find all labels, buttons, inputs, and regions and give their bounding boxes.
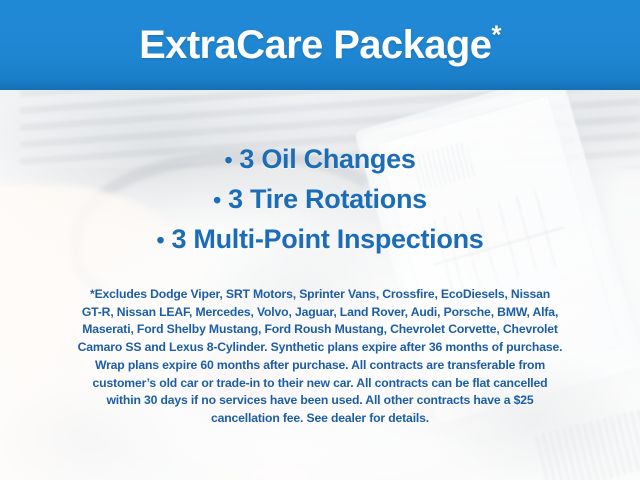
disclaimer-line: Camaro SS and Lexus 8-Cylinder. Syntheti…	[26, 339, 614, 357]
list-item: • 3 Oil Changes	[0, 140, 640, 180]
disclaimer-line: GT-R, Nissan LEAF, Mercedes, Volvo, Jagu…	[26, 304, 614, 322]
list-item: • 3 Tire Rotations	[0, 180, 640, 220]
benefits-list: • 3 Oil Changes • 3 Tire Rotations • 3 M…	[0, 140, 640, 260]
disclaimer-line: within 30 days if no services have been …	[26, 392, 614, 410]
page-title-text: ExtraCare Package	[139, 23, 491, 67]
disclaimer-line: cancellation fee. See dealer for details…	[26, 410, 614, 428]
list-item-label: 3 Tire Rotations	[228, 184, 427, 214]
list-item-label: 3 Multi-Point Inspections	[171, 224, 483, 254]
bullet-dot-icon: •	[213, 187, 221, 213]
disclaimer-text: *Excludes Dodge Viper, SRT Motors, Sprin…	[26, 286, 614, 428]
list-item-label: 3 Oil Changes	[239, 144, 415, 174]
bullet-dot-icon: •	[157, 227, 165, 253]
header-bar: ExtraCare Package*	[0, 0, 640, 90]
disclaimer-line: Wrap plans expire 60 months after purcha…	[26, 357, 614, 375]
disclaimer-line: *Excludes Dodge Viper, SRT Motors, Sprin…	[26, 286, 614, 304]
extracare-package-banner: ExtraCare Package* • 3 Oil Changes • 3 T…	[0, 0, 640, 480]
bullet-dot-icon: •	[224, 147, 232, 173]
disclaimer-line: customer’s old car or trade-in to their …	[26, 375, 614, 393]
page-title-asterisk: *	[491, 20, 501, 50]
disclaimer-line: Maserati, Ford Shelby Mustang, Ford Rous…	[26, 321, 614, 339]
page-title: ExtraCare Package*	[139, 25, 501, 65]
list-item: • 3 Multi-Point Inspections	[0, 220, 640, 260]
